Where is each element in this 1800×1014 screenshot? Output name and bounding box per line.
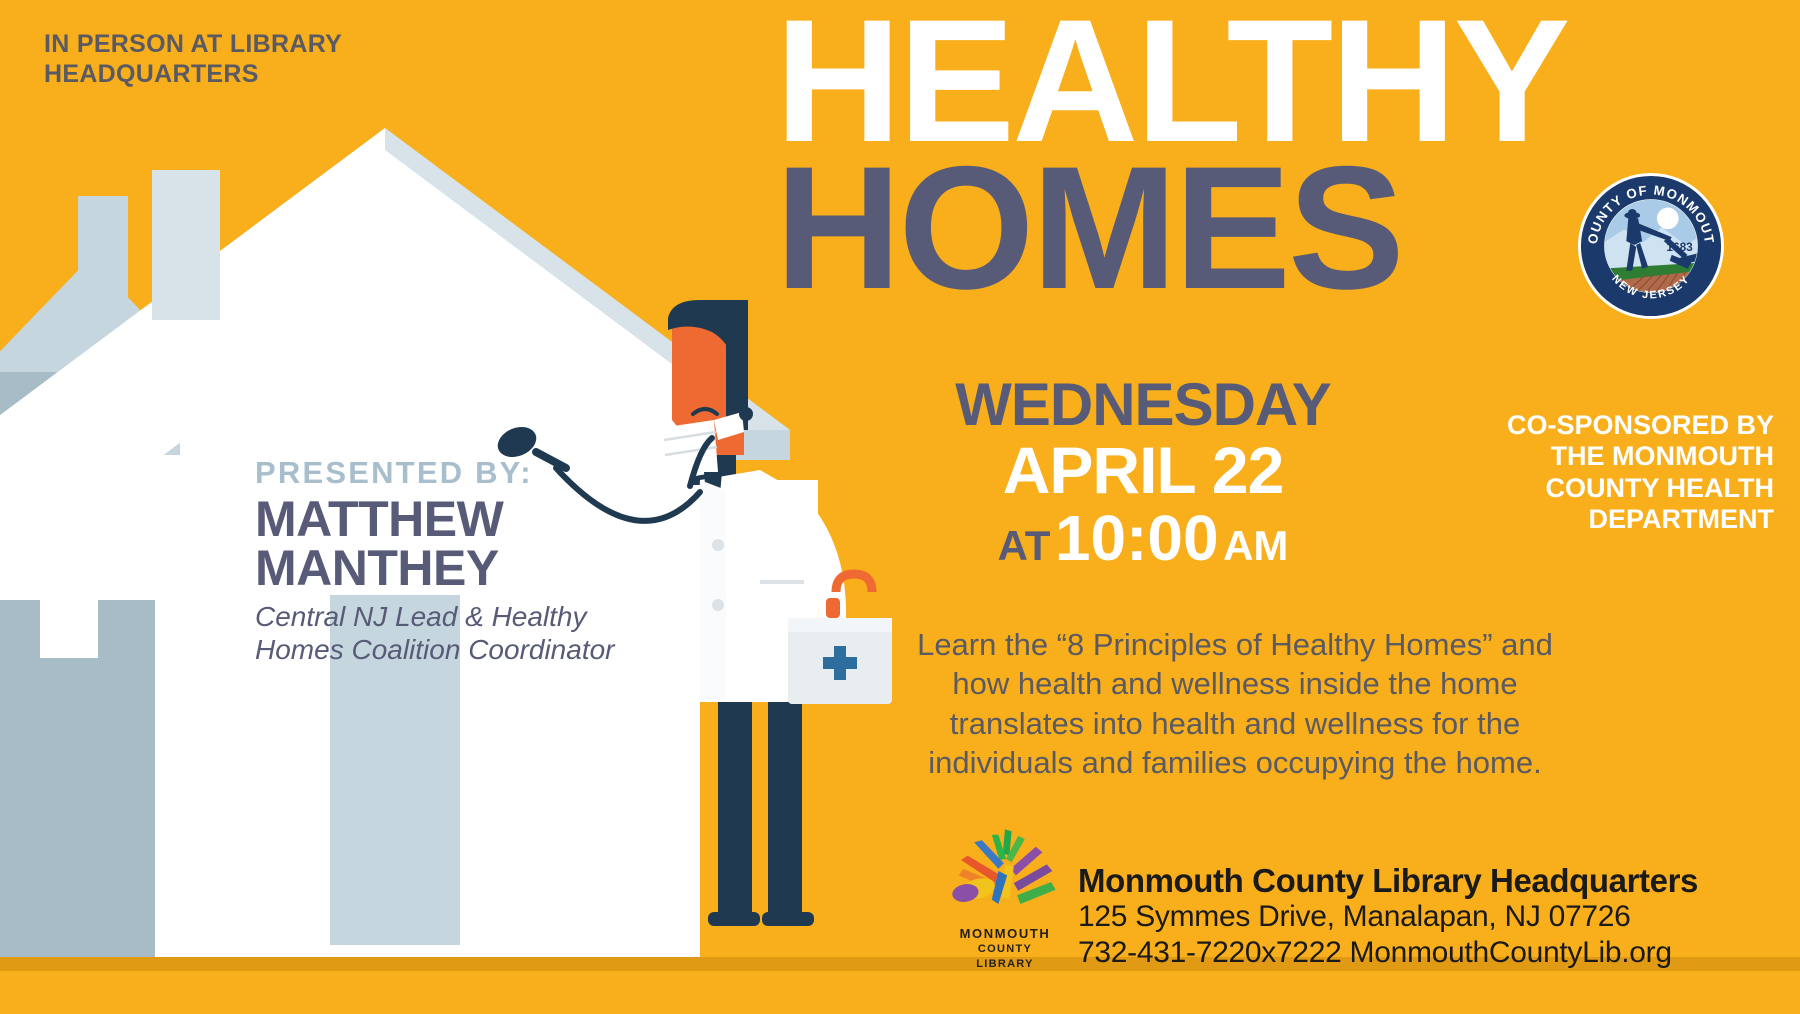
presenter-block: PRESENTED BY: MATTHEW MANTHEY Central NJ… — [255, 455, 685, 666]
event-date-block: WEDNESDAY APRIL 22 AT 10:00 AM — [918, 375, 1368, 570]
doctor-leg-left — [718, 700, 752, 922]
flyer-canvas: IN PERSON AT LIBRARY HEADQUARTERS HEALTH… — [0, 0, 1800, 1014]
doctor-shoe-right — [762, 912, 814, 926]
doctor-mask-ear-loop — [739, 407, 753, 421]
event-weekday: WEDNESDAY — [918, 375, 1368, 435]
doctor-shoe-left — [708, 912, 760, 926]
doctor-coat-lapel — [700, 480, 726, 700]
house-window-left — [40, 528, 98, 658]
event-time-hour: 10:00 — [1055, 502, 1219, 574]
cosponsor-line-2: THE MONMOUTH — [1444, 441, 1774, 472]
library-logo-wordmark: MONMOUTH COUNTY LIBRARY — [950, 925, 1060, 972]
county-seal-icon: COUNTY OF MONMOUTH NEW JERSEY 1683 — [1577, 172, 1725, 320]
event-time: AT 10:00 AM — [918, 506, 1368, 570]
cosponsor-line-4: DEPARTMENT — [1444, 504, 1774, 535]
presenter-name-first: MATTHEW — [255, 495, 685, 544]
presenter-role-line-1: Central NJ Lead & Healthy — [255, 600, 685, 633]
library-logo-petals — [951, 829, 1056, 904]
presenter-name-last: MANTHEY — [255, 544, 685, 593]
cosponsor-block: CO-SPONSORED BY THE MONMOUTH COUNTY HEAL… — [1444, 410, 1774, 535]
seal-year: 1683 — [1666, 240, 1693, 254]
kicker-line-1: IN PERSON AT LIBRARY — [44, 30, 404, 60]
doctor-coat-pocket — [760, 580, 804, 584]
medical-bag-hand — [826, 598, 840, 618]
library-logo-name: MONMOUTH — [950, 925, 1060, 943]
doctor-coat-button-1 — [712, 539, 724, 551]
event-description: Learn the “8 Principles of Healthy Homes… — [915, 625, 1555, 782]
seal-sun — [1657, 208, 1679, 230]
presenter-label: PRESENTED BY: — [255, 455, 685, 491]
event-date: APRIL 22 — [918, 437, 1368, 504]
cosponsor-line-1: CO-SPONSORED BY — [1444, 410, 1774, 441]
kicker-text: IN PERSON AT LIBRARY HEADQUARTERS — [44, 30, 404, 89]
house-chimney-2 — [152, 170, 220, 320]
house-chimney — [78, 196, 128, 316]
footer-block: MONMOUTH COUNTY LIBRARY Monmouth County … — [950, 827, 1698, 972]
medical-bag-top — [788, 618, 892, 632]
venue-street: 125 Symmes Drive, Manalapan, NJ 07726 — [1078, 899, 1698, 934]
presenter-role: Central NJ Lead & Healthy Homes Coalitio… — [255, 600, 685, 666]
event-time-ampm: AM — [1223, 522, 1288, 569]
kicker-line-2: HEADQUARTERS — [44, 60, 404, 90]
library-logo-icon — [950, 827, 1060, 917]
presenter-role-line-2: Homes Coalition Coordinator — [255, 633, 685, 666]
doctor-leg-right — [768, 700, 802, 922]
page-title: HEALTHY HOMES — [775, 8, 1567, 302]
library-logo-sub: COUNTY LIBRARY — [950, 942, 1060, 972]
venue-contact: 732-431-7220x7222 MonmouthCountyLib.org — [1078, 935, 1698, 970]
venue-name: Monmouth County Library Headquarters — [1078, 863, 1698, 899]
doctor-coat-button-2 — [712, 599, 724, 611]
library-logo: MONMOUTH COUNTY LIBRARY — [950, 827, 1060, 972]
venue-address-block: Monmouth County Library Headquarters 125… — [1078, 863, 1698, 972]
presenter-name: MATTHEW MANTHEY — [255, 495, 685, 593]
medical-bag-cross-h — [823, 657, 857, 669]
event-time-at: AT — [998, 522, 1051, 569]
cosponsor-line-3: COUNTY HEALTH — [1444, 473, 1774, 504]
